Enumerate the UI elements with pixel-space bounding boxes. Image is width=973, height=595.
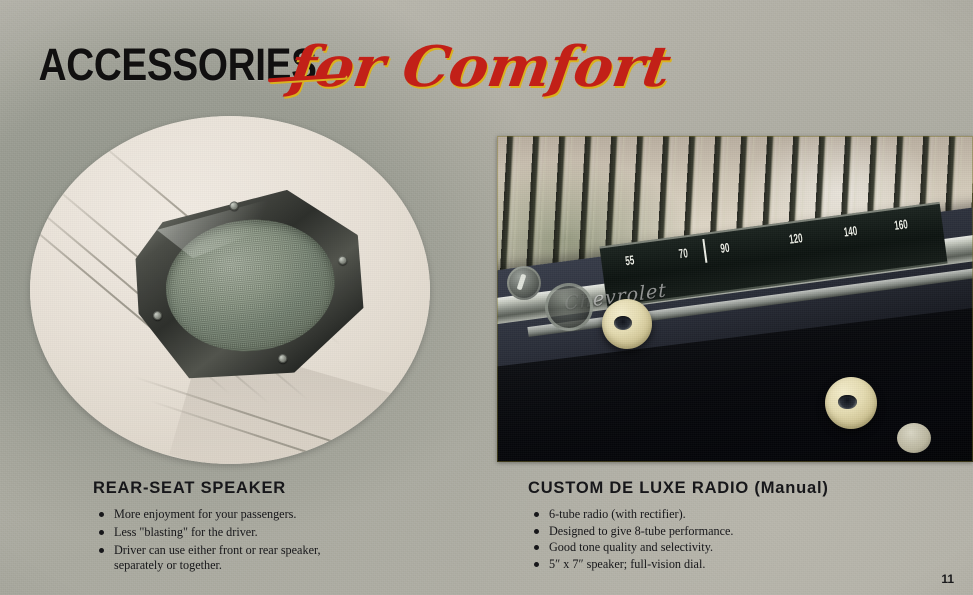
page-vignette — [0, 0, 973, 595]
brochure-page: ACCESSORIES for Comfort — [0, 0, 973, 595]
